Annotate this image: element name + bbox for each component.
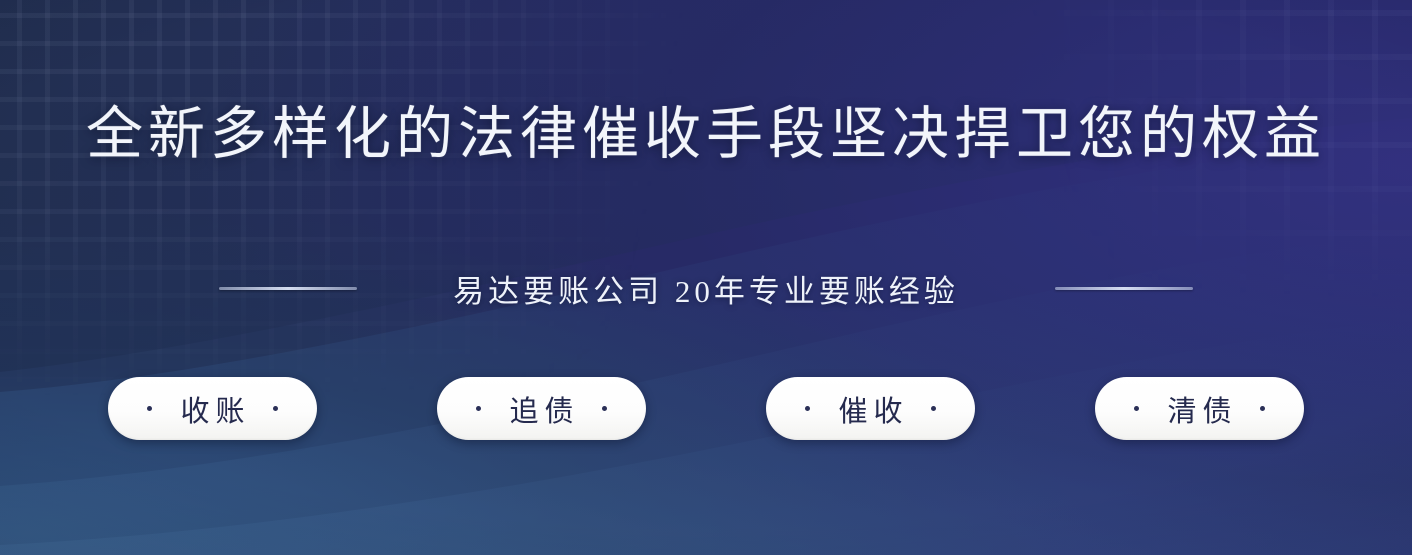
service-pill-label: 清债 (1161, 388, 1237, 430)
bullet-dot-icon (931, 406, 936, 411)
banner-subtitle: 易达要账公司 20年专业要账经验 (453, 266, 959, 311)
bullet-dot-icon (1260, 406, 1265, 411)
service-pill-label: 催收 (832, 388, 908, 430)
bullet-dot-icon (476, 406, 481, 411)
service-pill-zhuizhai[interactable]: 追债 (437, 377, 646, 440)
promotional-banner: 全新多样化的法律催收手段坚决捍卫您的权益 易达要账公司 20年专业要账经验 收账… (0, 0, 1412, 555)
bullet-dot-icon (273, 406, 278, 411)
divider-line-left (219, 287, 357, 290)
bullet-dot-icon (602, 406, 607, 411)
banner-content: 全新多样化的法律催收手段坚决捍卫您的权益 易达要账公司 20年专业要账经验 收账… (0, 0, 1412, 555)
service-pill-label: 收账 (174, 388, 250, 430)
service-pill-row: 收账 追债 催收 清债 (0, 377, 1412, 440)
bullet-dot-icon (805, 406, 810, 411)
service-pill-label: 追债 (503, 388, 579, 430)
banner-headline: 全新多样化的法律催收手段坚决捍卫您的权益 (0, 104, 1412, 167)
service-pill-cuishou[interactable]: 催收 (766, 377, 975, 440)
service-pill-qingzhai[interactable]: 清债 (1095, 377, 1304, 440)
bullet-dot-icon (147, 406, 152, 411)
service-pill-shouzhang[interactable]: 收账 (108, 377, 317, 440)
divider-line-right (1055, 287, 1193, 290)
bullet-dot-icon (1134, 406, 1139, 411)
subtitle-row: 易达要账公司 20年专业要账经验 (0, 266, 1412, 311)
